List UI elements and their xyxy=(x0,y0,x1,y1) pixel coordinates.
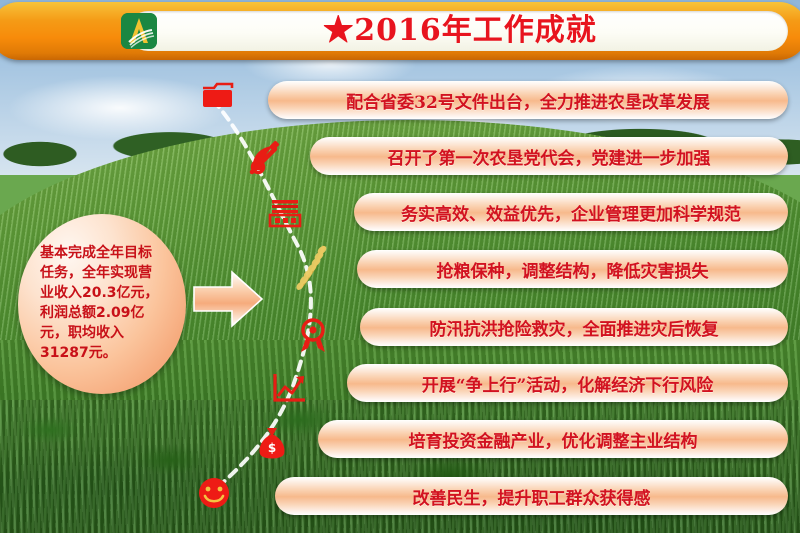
achievement-bar-5[interactable]: 防汛抗洪抢险救灾，全面推进灾后恢复 xyxy=(360,308,788,346)
achievement-label: 召开了第一次农垦党代会，党建进一步加强 xyxy=(388,144,711,169)
hammer-sickle-icon xyxy=(247,140,281,174)
achievement-bar-3[interactable]: 务实高效、效益优先，企业管理更加科学规范 xyxy=(354,193,788,231)
growth-chart-icon xyxy=(272,372,306,406)
slide-root: ★2016年工作成就 基本完成全年目标任务，全年实现营业收入20.3亿元，利润总… xyxy=(0,0,800,533)
achievement-label: 改善民生，提升职工群众获得感 xyxy=(413,484,651,509)
wheat-ear-icon xyxy=(290,242,332,294)
achievement-bar-8[interactable]: 改善民生，提升职工群众获得感 xyxy=(275,477,788,515)
achievement-bar-1[interactable]: 配合省委32号文件出台，全力推进农垦改革发展 xyxy=(268,81,788,119)
smiley-face-icon xyxy=(197,476,231,510)
svg-text:$: $ xyxy=(268,441,276,455)
page-title: ★2016年工作成就 xyxy=(170,8,750,54)
summary-oval: 基本完成全年目标任务，全年实现营业收入20.3亿元，利润总额2.09亿元，职均收… xyxy=(18,214,186,394)
agribusiness-logo xyxy=(121,13,157,49)
achievement-label: 务实高效、效益优先，企业管理更加科学规范 xyxy=(401,200,741,225)
summary-text: 基本完成全年目标任务，全年实现营业收入20.3亿元，利润总额2.09亿元，职均收… xyxy=(40,244,164,363)
factory-icon xyxy=(268,198,302,232)
achievement-label: 抢粮保种，调整结构，降低灾害损失 xyxy=(437,257,709,282)
achievement-bar-4[interactable]: 抢粮保种，调整结构，降低灾害损失 xyxy=(357,250,788,288)
award-ribbon-icon xyxy=(296,318,330,352)
achievement-bar-6[interactable]: 开展“争上行”活动，化解经济下行风险 xyxy=(347,364,788,402)
folder-icon xyxy=(201,82,235,116)
achievement-label: 培育投资金融产业，优化调整主业结构 xyxy=(409,427,698,452)
achievement-bar-2[interactable]: 召开了第一次农垦党代会，党建进一步加强 xyxy=(310,137,788,175)
right-arrow-icon xyxy=(192,268,264,330)
money-bag-icon: $ xyxy=(255,426,289,460)
achievement-label: 防汛抗洪抢险救灾，全面推进灾后恢复 xyxy=(430,315,719,340)
achievement-label: 开展“争上行”活动，化解经济下行风险 xyxy=(422,371,714,396)
achievement-bar-7[interactable]: 培育投资金融产业，优化调整主业结构 xyxy=(318,420,788,458)
achievement-label: 配合省委32号文件出台，全力推进农垦改革发展 xyxy=(346,88,710,113)
